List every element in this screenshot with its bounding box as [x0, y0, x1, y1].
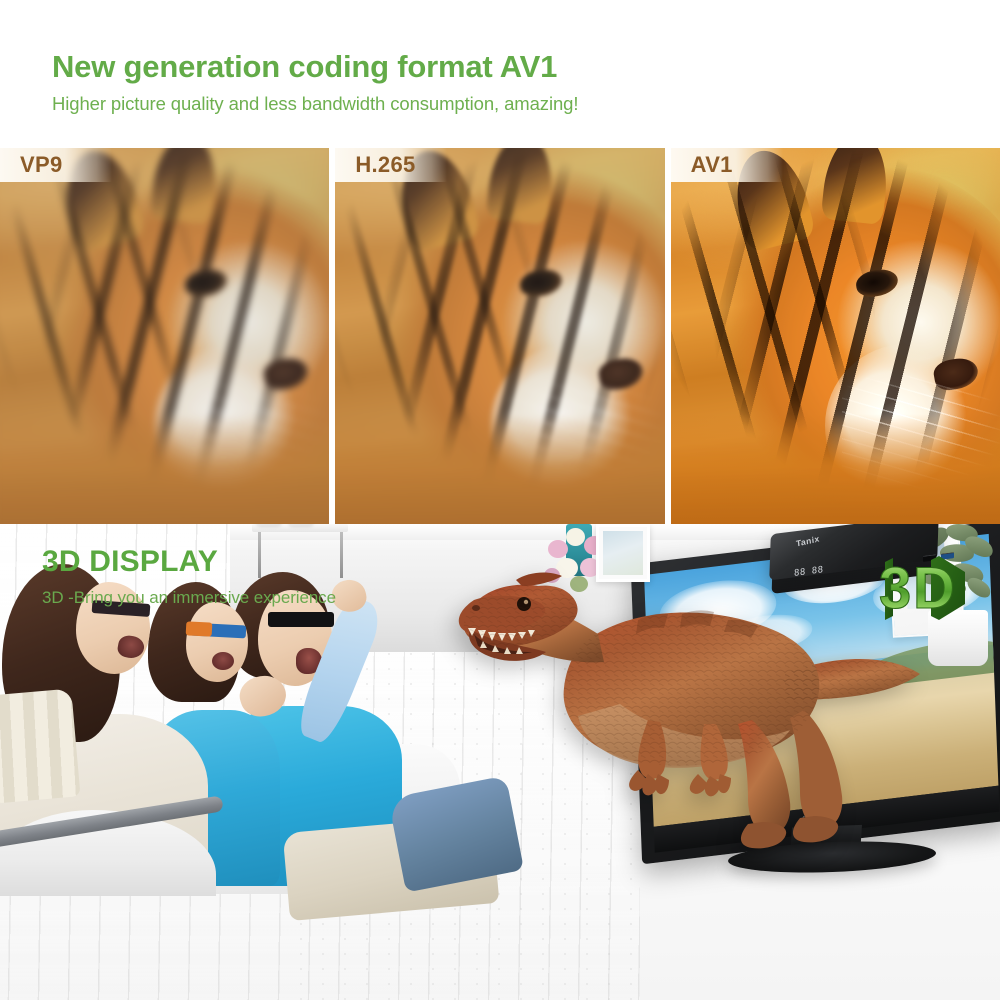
- page-subtitle: Higher picture quality and less bandwidt…: [52, 93, 1000, 115]
- codec-label-av1: AV1: [671, 148, 783, 182]
- codec-panel-h265: H.265: [335, 148, 664, 524]
- tiger-image-vp9: [0, 148, 329, 524]
- codec-label-text: VP9: [20, 152, 62, 178]
- codec-label-h265: H.265: [335, 148, 447, 182]
- tiger-image-av1: [671, 148, 1000, 524]
- sofa-cushion: [0, 688, 81, 803]
- logo-3d-badge: 3 D 3D: [870, 552, 978, 626]
- 3d-display-section: 3D DISPLAY 3D -Bring you an immersive ex…: [0, 524, 1000, 1000]
- 3d-glasses-man: [268, 612, 334, 627]
- svg-text:3: 3: [879, 556, 911, 621]
- codec-label-vp9: VP9: [0, 148, 112, 182]
- page-title: New generation coding format AV1: [52, 50, 1000, 84]
- svg-text:D: D: [913, 556, 955, 621]
- 3d-header: 3D DISPLAY 3D -Bring you an immersive ex…: [42, 546, 336, 608]
- codec-label-text: AV1: [691, 152, 733, 178]
- 3d-title: 3D DISPLAY: [42, 546, 336, 578]
- codec-label-text: H.265: [355, 152, 415, 178]
- tiger-image-h265: [335, 148, 664, 524]
- codec-comparison-panels: VP9: [0, 148, 1000, 524]
- product-banner-page: New generation coding format AV1 Higher …: [0, 0, 1000, 1000]
- 3d-subtitle: 3D -Bring you an immersive experience: [42, 588, 336, 608]
- av1-codec-section: New generation coding format AV1 Higher …: [0, 0, 1000, 524]
- codec-header: New generation coding format AV1 Higher …: [0, 0, 1000, 115]
- codec-panel-vp9: VP9: [0, 148, 329, 524]
- codec-panel-av1: AV1: [671, 148, 1000, 524]
